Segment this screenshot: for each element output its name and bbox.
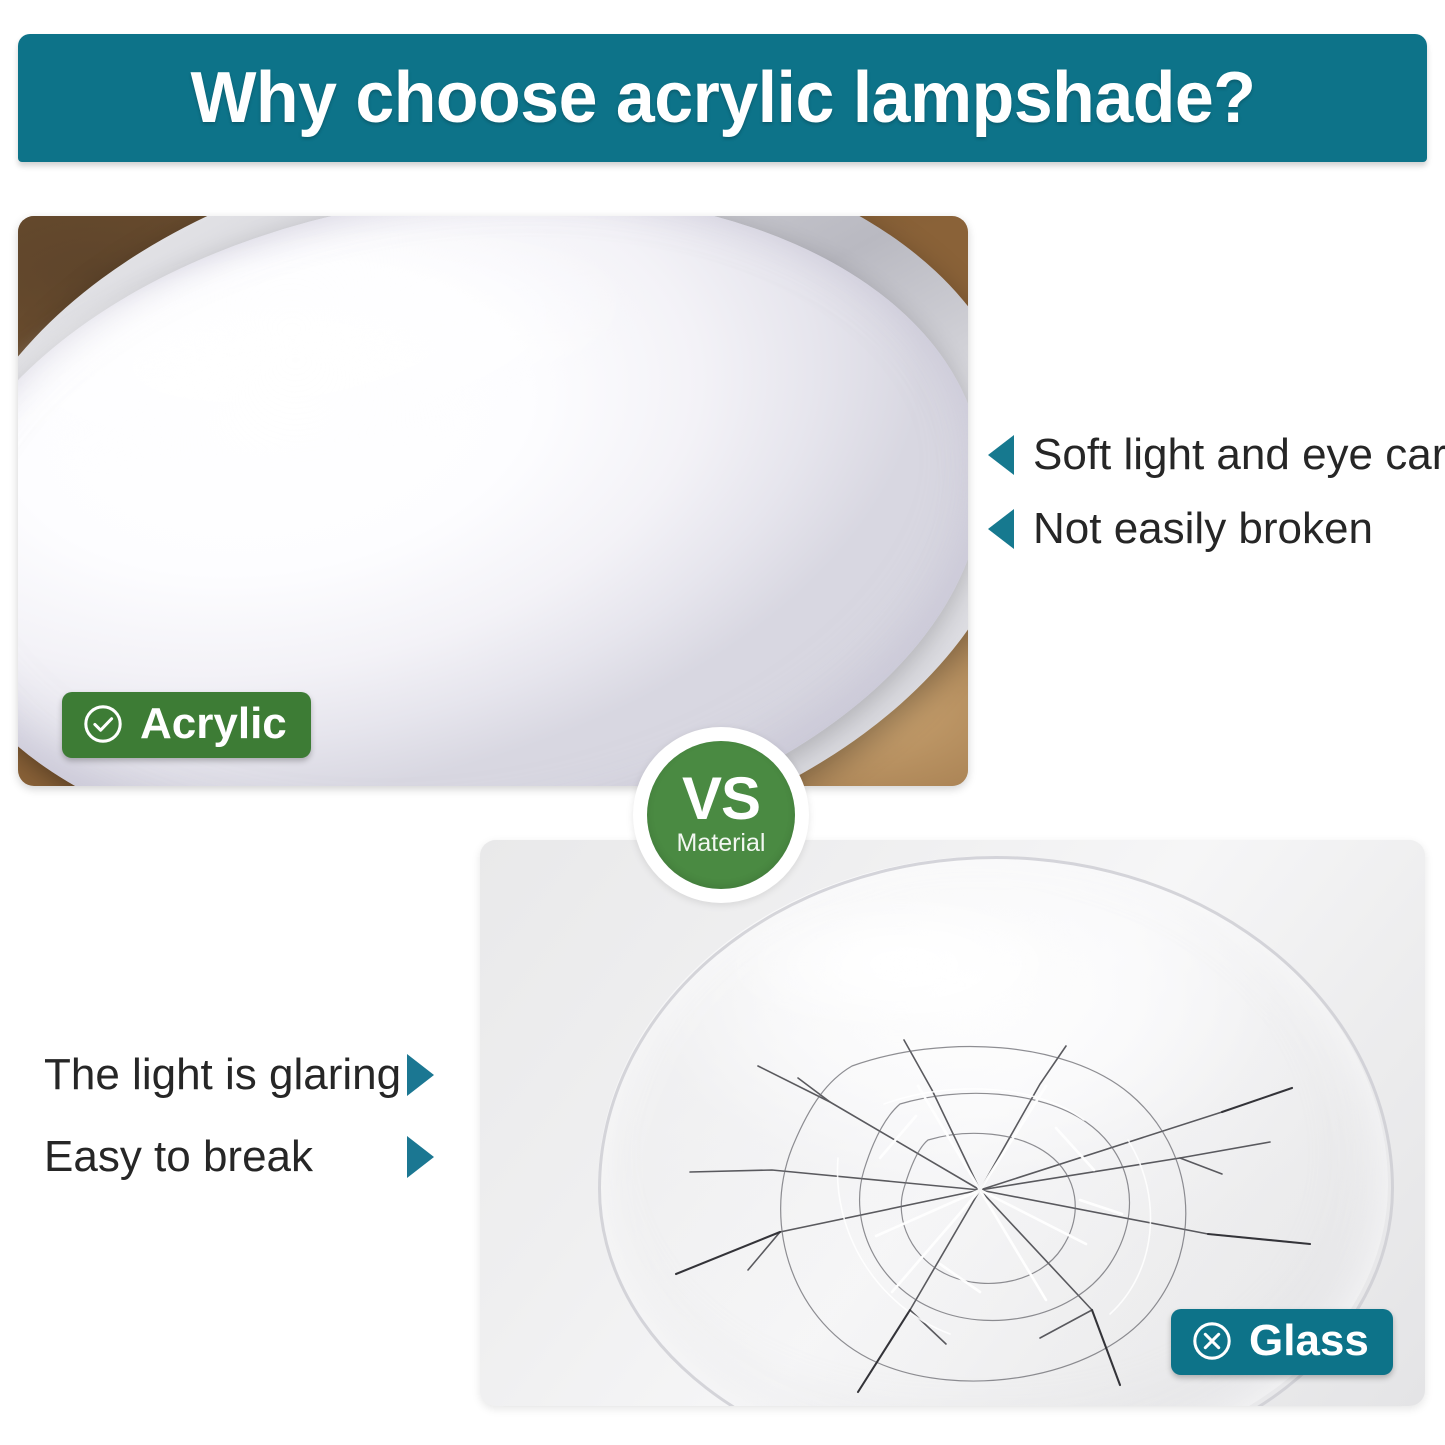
x-circle-icon — [1191, 1320, 1233, 1362]
check-circle-icon — [82, 703, 124, 745]
vs-circle: VS Material — [647, 741, 795, 889]
acrylic-benefit-label: Not easily broken — [1033, 506, 1373, 552]
page-title-banner: Why choose acrylic lampshade? — [18, 34, 1427, 162]
acrylic-benefits-list: Soft light and eye care Not easily broke… — [988, 432, 1445, 552]
triangle-right-icon — [407, 1054, 434, 1096]
vs-sublabel: Material — [677, 831, 766, 856]
vs-label: VS — [682, 770, 760, 827]
triangle-left-icon — [988, 435, 1014, 475]
acrylic-badge-label: Acrylic — [140, 702, 287, 746]
page-title: Why choose acrylic lampshade? — [190, 62, 1255, 134]
glass-drawback-label: The light is glaring — [44, 1052, 401, 1098]
vs-material-badge: VS Material — [633, 727, 809, 903]
list-item: The light is glaring — [44, 1052, 434, 1098]
acrylic-benefit-label: Soft light and eye care — [1033, 432, 1445, 478]
glass-drawback-label: Easy to break — [44, 1134, 313, 1180]
acrylic-badge: Acrylic — [62, 692, 311, 758]
triangle-left-icon — [988, 509, 1014, 549]
list-item: Not easily broken — [988, 506, 1445, 552]
glass-badge: Glass — [1171, 1309, 1393, 1375]
glass-badge-label: Glass — [1249, 1319, 1369, 1363]
glass-drawbacks-list: The light is glaring Easy to break — [44, 1052, 434, 1180]
list-item: Soft light and eye care — [988, 432, 1445, 478]
triangle-right-icon — [407, 1136, 434, 1178]
list-item: Easy to break — [44, 1134, 434, 1180]
